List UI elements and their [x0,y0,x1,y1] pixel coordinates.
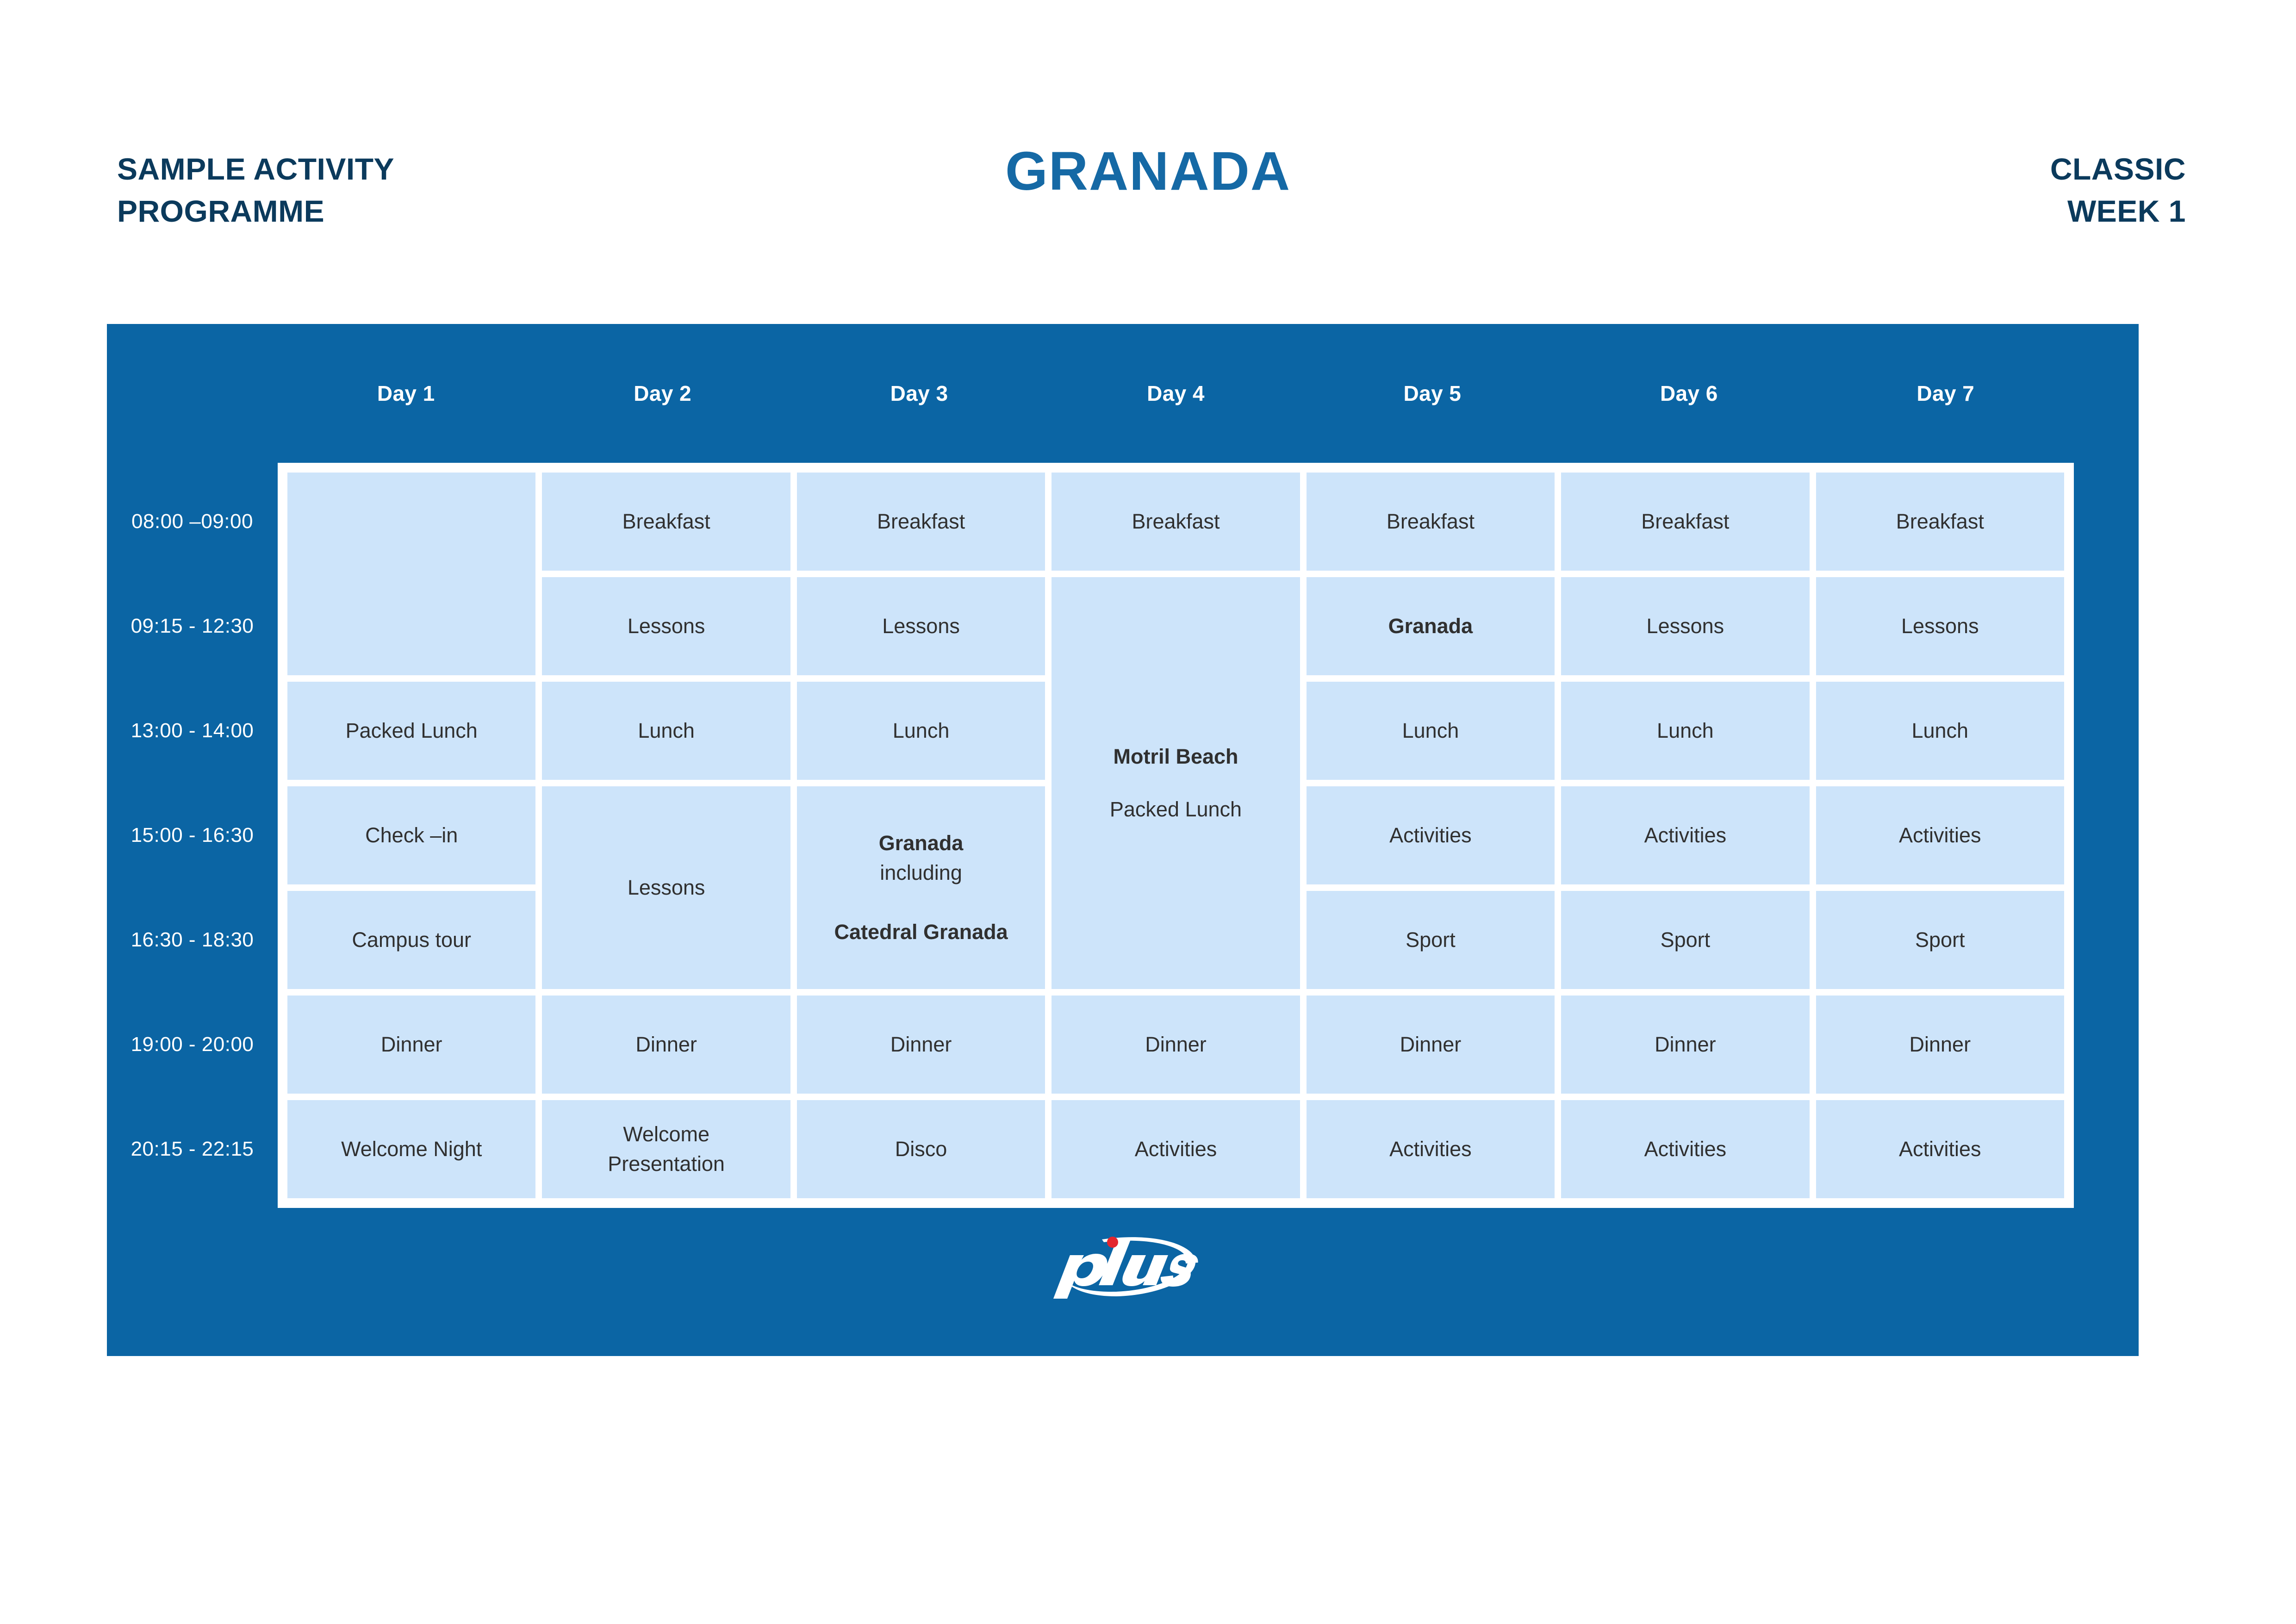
schedule-cell-d3-r7[interactable]: Disco [797,1100,1045,1198]
programme-type-line2: WEEK 1 [2050,190,2186,232]
programme-type-line1: CLASSIC [2050,148,2186,190]
cell-text-line: Lessons [882,611,960,641]
cell-text-line: Welcome Night [341,1134,482,1164]
cell-text-line: Activities [1389,821,1472,850]
time-label-3: 13:00 - 14:00 [107,678,278,783]
cell-text-line: Activities [1899,1134,1981,1164]
cell-text-line: Dinner [381,1030,442,1059]
schedule-cell-d7-r2[interactable]: Lessons [1816,577,2064,675]
cell-text-line: Lunch [1402,716,1459,746]
day-header-3: Day 3 [791,324,1047,463]
schedule-cell-d4-r7[interactable]: Activities [1052,1100,1300,1198]
cell-text-line: Packed Lunch [346,716,478,746]
schedule-cell-d6-r1[interactable]: Breakfast [1561,473,1809,571]
time-label-6: 19:00 - 20:00 [107,992,278,1097]
schedule-cell-d1-r6[interactable]: Dinner [287,996,535,1094]
cell-text-line: Sport [1406,925,1456,955]
cell-text-line: Welcome [623,1120,709,1149]
cell-text-fragment: Packed Lunch [1110,795,1242,824]
schedule-cell-d3-r1[interactable]: Breakfast [797,473,1045,571]
page-title: GRANADA [0,140,2296,203]
activity-programme-page: SAMPLE ACTIVITY PROGRAMME GRANADA CLASSI… [0,0,2296,1624]
schedule-cell-d2-r7[interactable]: WelcomePresentation [542,1100,790,1198]
cell-text-line: Dinner [1655,1030,1716,1059]
cell-text-line: Lessons [1901,611,1979,641]
day-header-7: Day 7 [1817,324,2074,463]
programme-type: CLASSIC WEEK 1 [2050,148,2186,232]
schedule-cell-d6-r4[interactable]: Activities [1561,786,1809,884]
schedule-cell-d2-r6[interactable]: Dinner [542,996,790,1094]
schedule-cell-d7-r7[interactable]: Activities [1816,1100,2064,1198]
day-header-5: Day 5 [1304,324,1561,463]
schedule-cell-d5-r6[interactable]: Dinner [1307,996,1555,1094]
cell-text-line: Check –in [365,821,458,850]
cell-text-line: Disco [895,1134,947,1164]
cell-text-line: Breakfast [1896,507,1984,536]
cell-text-line: Activities [1389,1134,1472,1164]
schedule-cell-d2-r3[interactable]: Lunch [542,682,790,780]
schedule-cell-d5-r5[interactable]: Sport [1307,891,1555,989]
plus-logo-icon [1046,1231,1199,1300]
schedule-cell-d5-r7[interactable]: Activities [1307,1100,1555,1198]
time-label-4: 15:00 - 16:30 [107,783,278,888]
day-header-row: Day 1Day 2Day 3Day 4Day 5Day 6Day 7 [278,324,2074,463]
cell-text-line: Lunch [638,716,695,746]
cell-text-line: Campus tour [352,925,471,955]
cell-text-fragment: Granada [879,828,964,858]
cell-text-fragment: including [880,858,962,888]
cell-text-line: Activities [1135,1134,1217,1164]
cell-text-line: Dinner [1145,1030,1207,1059]
schedule-grid: Packed LunchCheck –inCampus tourDinnerWe… [278,463,2074,1208]
day-header-1: Day 1 [278,324,534,463]
cell-text-line: Dinner [635,1030,697,1059]
time-label-5: 16:30 - 18:30 [107,888,278,992]
cell-text-line: Activities [1899,821,1981,850]
schedule-cell-d2-r4[interactable]: Lessons [542,786,790,989]
schedule-cell-d1-r3[interactable]: Packed Lunch [287,682,535,780]
cell-text-line: Breakfast [877,507,965,536]
schedule-cell-d1-r5[interactable]: Campus tour [287,891,535,989]
schedule-panel: Day 1Day 2Day 3Day 4Day 5Day 6Day 7 08:0… [107,324,2139,1356]
schedule-cell-d6-r7[interactable]: Activities [1561,1100,1809,1198]
schedule-cell-d6-r5[interactable]: Sport [1561,891,1809,989]
cell-text-line: Lunch [1657,716,1714,746]
schedule-cell-d1-r1[interactable] [287,473,535,675]
cell-text-line: Breakfast [1132,507,1220,536]
time-label-7: 20:15 - 22:15 [107,1097,278,1201]
schedule-cell-d7-r4[interactable]: Activities [1816,786,2064,884]
cell-text-line: Dinner [1910,1030,1971,1059]
schedule-cell-d6-r6[interactable]: Dinner [1561,996,1809,1094]
cell-text-line: Lessons [1647,611,1724,641]
schedule-cell-d5-r1[interactable]: Breakfast [1307,473,1555,571]
schedule-cell-d1-r7[interactable]: Welcome Night [287,1100,535,1198]
cell-text-line: Lunch [893,716,950,746]
cell-text-line: Presentation [608,1149,725,1179]
schedule-cell-d2-r1[interactable]: Breakfast [542,473,790,571]
schedule-cell-d7-r1[interactable]: Breakfast [1816,473,2064,571]
schedule-cell-d4-r1[interactable]: Breakfast [1052,473,1300,571]
cell-text-fragment: Motril Beach [1113,742,1238,772]
cell-text-line: Dinner [1400,1030,1462,1059]
cell-text-line: Breakfast [1641,507,1729,536]
cell-text-line: Lessons [628,611,705,641]
schedule-cell-d3-r2[interactable]: Lessons [797,577,1045,675]
schedule-cell-d4-r2[interactable]: Motril BeachPacked Lunch [1052,577,1300,989]
day-header-4: Day 4 [1047,324,1304,463]
schedule-cell-d5-r3[interactable]: Lunch [1307,682,1555,780]
cell-text-line: Sport [1915,925,1965,955]
schedule-cell-d7-r3[interactable]: Lunch [1816,682,2064,780]
schedule-cell-d6-r2[interactable]: Lessons [1561,577,1809,675]
cell-text-line: Lunch [1911,716,1968,746]
cell-text-line: Dinner [890,1030,952,1059]
schedule-cell-d2-r2[interactable]: Lessons [542,577,790,675]
schedule-cell-d3-r6[interactable]: Dinner [797,996,1045,1094]
cell-text-line: Lessons [628,873,705,902]
cell-text-line: Breakfast [622,507,710,536]
schedule-cell-d6-r3[interactable]: Lunch [1561,682,1809,780]
schedule-cell-d5-r2[interactable]: Granada [1307,577,1555,675]
cell-text-line: Activities [1644,1134,1727,1164]
cell-text-fragment: Granada [1388,611,1473,641]
page-header: SAMPLE ACTIVITY PROGRAMME GRANADA CLASSI… [0,125,2296,264]
day-header-2: Day 2 [534,324,790,463]
cell-text-line: Activities [1644,821,1727,850]
cell-text-fragment: Catedral Granada [834,917,1008,947]
cell-text-line: Sport [1661,925,1711,955]
schedule-cell-d3-r4[interactable]: Granada includingCatedral Granada [797,786,1045,989]
time-label-1: 08:00 –09:00 [107,469,278,574]
time-label-2: 09:15 - 12:30 [107,574,278,678]
schedule-cell-d5-r4[interactable]: Activities [1307,786,1555,884]
schedule-cell-d7-r6[interactable]: Dinner [1816,996,2064,1094]
schedule-cell-d7-r5[interactable]: Sport [1816,891,2064,989]
cell-text-line: Breakfast [1387,507,1475,536]
schedule-cell-d3-r3[interactable]: Lunch [797,682,1045,780]
schedule-cell-d1-r4[interactable]: Check –in [287,786,535,884]
day-header-6: Day 6 [1561,324,1817,463]
brand-logo [107,1231,2139,1300]
time-label-column: 08:00 –09:0009:15 - 12:3013:00 - 14:0015… [107,463,278,1208]
schedule-cell-d4-r6[interactable]: Dinner [1052,996,1300,1094]
